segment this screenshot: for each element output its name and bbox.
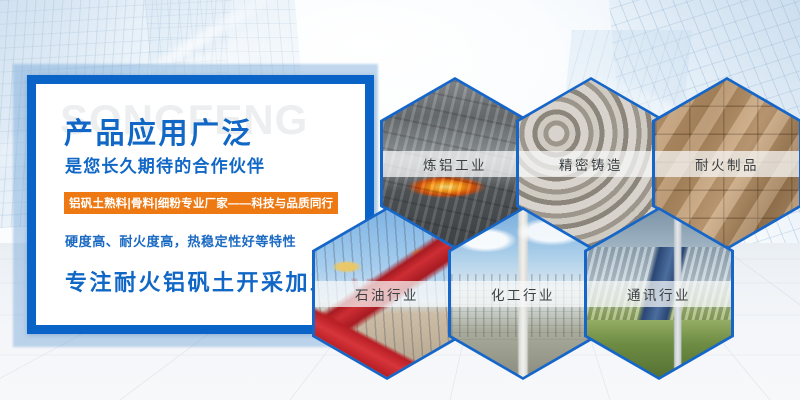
page-title: 产品应用广泛 [64,110,253,152]
hex-label: 化工行业 [451,281,595,307]
hex-label: 通讯行业 [587,281,731,307]
hex-label: 石油行业 [315,281,459,307]
feature-text: 硬度高、耐火度高，热稳定性好等特性 [65,231,296,250]
hex-label: 精密铸造 [519,151,663,177]
hex-label: 耐火制品 [655,151,799,177]
banner-stage: SONGFENG 产品应用广泛 是您长久期待的合作伙伴 铝矾土熟料|骨料|细粉专… [0,0,800,400]
hex-label: 炼铝工业 [383,151,527,177]
highlight-tag-bar: 铝矾土熟料|骨料|细粉专业厂家——科技与品质同行 [64,192,338,214]
focus-text: 专注耐火铝矾土开采加工 [65,265,335,297]
subtitle: 是您长久期待的合作伙伴 [65,152,265,177]
